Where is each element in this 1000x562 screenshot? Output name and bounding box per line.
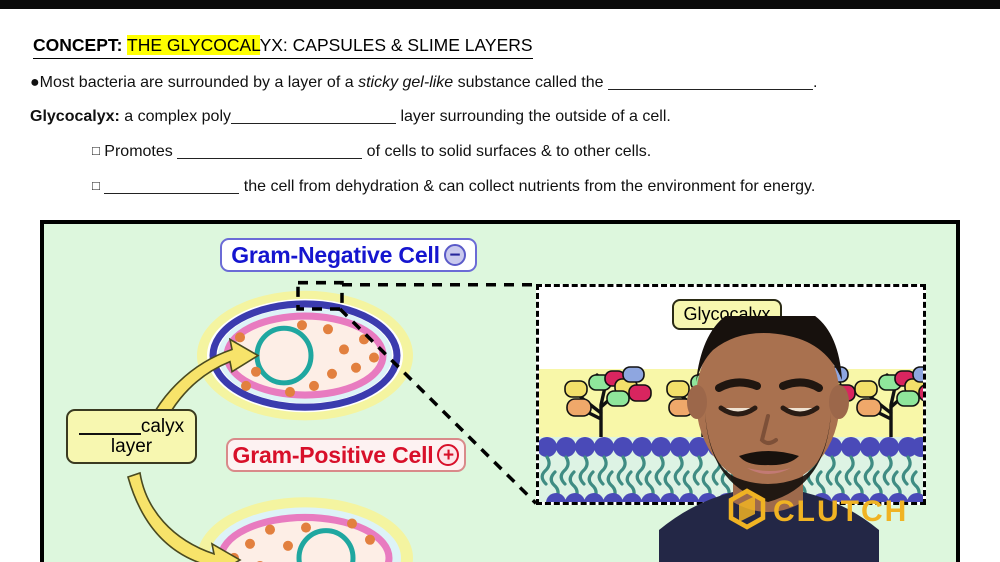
note-bullet-2: Glycocalyx: a complex poly layer surroun…: [30, 108, 671, 126]
instructor-webcam-overlay[interactable]: CLUTCH: [613, 316, 923, 562]
bullet-1-text-c: .: [813, 74, 817, 91]
fill-in-blank-2: [231, 123, 396, 124]
concept-heading: CONCEPT: THE GLYCOCALYX: CAPSULES & SLIM…: [33, 35, 533, 59]
note-bullet-3: □ Promotes of cells to solid surfaces & …: [92, 143, 651, 161]
concept-title-rest: YX: CAPSULES & SLIME LAYERS: [260, 35, 533, 55]
fill-in-blank-1: [608, 89, 813, 90]
fill-in-blank-4: [104, 193, 239, 194]
fill-in-blank-3: [177, 158, 362, 159]
clutch-wordmark: CLUTCH: [773, 495, 908, 528]
gram-positive-cell-illustration: [197, 497, 413, 562]
calyx-layer-callout: calyx layer: [66, 409, 197, 464]
concept-label: CONCEPT:: [33, 35, 122, 55]
plus-sign-icon: +: [437, 444, 459, 466]
note-bullet-1: ●Most bacteria are surrounded by a layer…: [30, 74, 817, 92]
instructor-video: CLUTCH: [613, 316, 923, 562]
lecture-notes-area: CONCEPT: THE GLYCOCALYX: CAPSULES & SLIM…: [0, 9, 1000, 217]
bullet-marker: ●: [30, 74, 40, 91]
bullet-2-text-a: a complex poly: [120, 108, 231, 125]
bullet-4-text-b: the cell from dehydration & can collect …: [239, 178, 815, 195]
calyx-callout-line-2: layer: [111, 437, 152, 457]
concept-title-highlighted: THE GLYCOCAL: [127, 35, 260, 55]
gram-negative-label: Gram-Negative Cell −: [220, 238, 477, 272]
calyx-callout-line-1: calyx: [79, 417, 184, 437]
bullet-1-text-a: Most bacteria are surrounded by a layer …: [40, 74, 358, 91]
glycocalyx-term: Glycocalyx:: [30, 108, 120, 125]
calyx-fill-in-blank: [79, 433, 141, 435]
square-bullet-marker: □: [92, 143, 100, 158]
minus-sign-icon: −: [444, 244, 466, 266]
note-bullet-4: □ the cell from dehydration & can collec…: [92, 178, 815, 196]
gram-positive-label: Gram-Positive Cell +: [226, 438, 466, 472]
screen-root: CONCEPT: THE GLYCOCALYX: CAPSULES & SLIM…: [0, 0, 1000, 562]
bullet-1-text-b: substance called the: [453, 74, 608, 91]
bullet-3-text-b: of cells to solid surfaces & to other ce…: [362, 143, 651, 160]
bullet-2-text-b: layer surrounding the outside of a cell.: [396, 108, 671, 125]
square-bullet-marker: □: [92, 178, 100, 193]
bullet-3-text-a: Promotes: [100, 143, 177, 160]
calyx-callout-suffix: calyx: [141, 416, 184, 437]
gram-positive-label-text: Gram-Positive Cell: [233, 442, 434, 469]
bullet-1-emphasis: sticky gel-like: [358, 74, 453, 91]
gram-negative-label-text: Gram-Negative Cell: [231, 242, 440, 269]
top-black-bar: [0, 0, 1000, 9]
